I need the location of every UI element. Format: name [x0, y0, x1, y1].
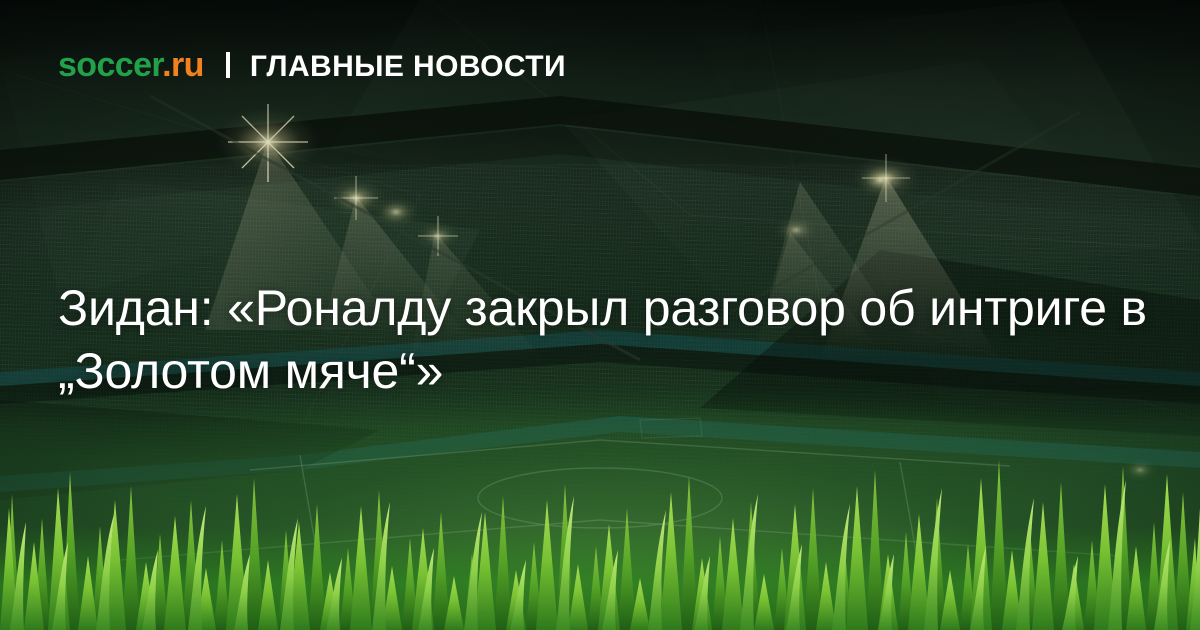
header-kicker: ГЛАВНЫЕ НОВОСТИ: [250, 52, 566, 82]
article-headline: Зидан: «Роналду закрыл разговор об интри…: [58, 277, 1148, 403]
site-header: soccer.ru ГЛАВНЫЕ НОВОСТИ: [58, 48, 566, 82]
header-separator: [226, 52, 230, 78]
site-logo[interactable]: soccer.ru: [58, 48, 204, 82]
logo-text-ru: .ru: [162, 46, 204, 84]
background-pitch: [0, 384, 1200, 630]
foreground-grass: [0, 430, 1200, 630]
logo-text-soccer: soccer: [58, 46, 162, 84]
news-share-card: soccer.ru ГЛАВНЫЕ НОВОСТИ Зидан: «Роналд…: [0, 0, 1200, 630]
